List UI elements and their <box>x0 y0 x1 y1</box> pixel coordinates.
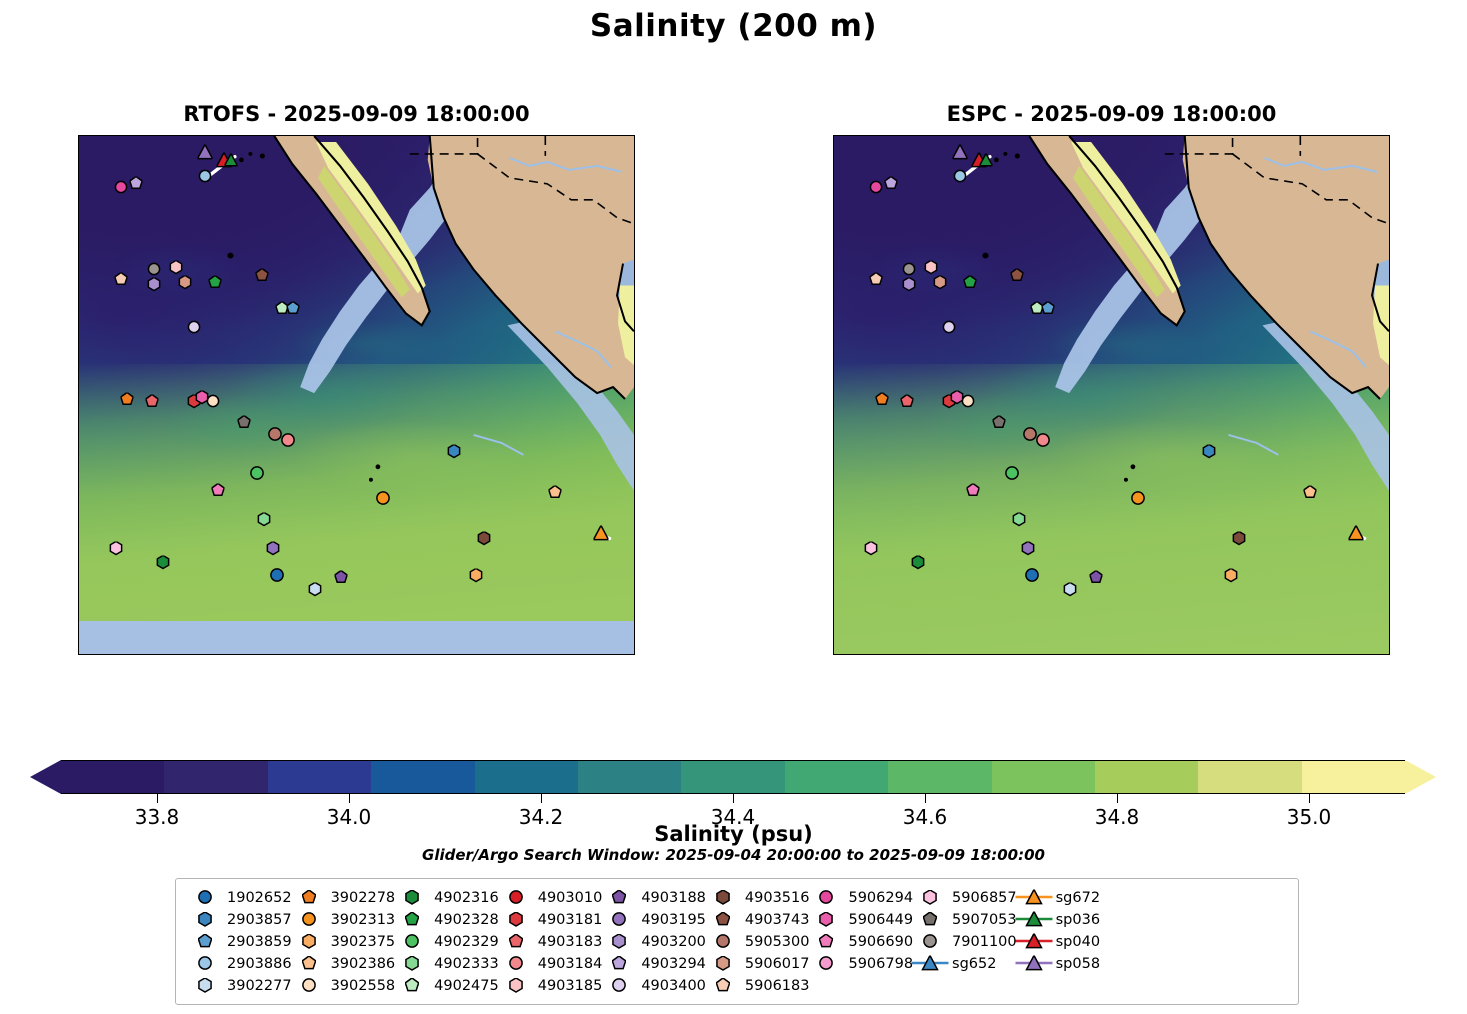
triangle-marker-icon <box>1017 932 1051 951</box>
lat-minor-tick <box>833 200 834 201</box>
map-marker-sg672[interactable] <box>594 525 609 546</box>
lat-minor-tick <box>1389 648 1390 649</box>
lon-minor-tick <box>1340 654 1341 655</box>
legend-column-4: 49030104903181490318349031844903185 <box>499 888 603 995</box>
legend-item-4903183[interactable]: 4903183 <box>499 932 603 951</box>
legend-label: sg672 <box>1056 890 1100 906</box>
lon-minor-tick <box>1101 654 1102 655</box>
map-marker-2903859[interactable] <box>287 301 300 320</box>
legend-label: 2903859 <box>227 934 292 950</box>
map-marker-3902386[interactable] <box>549 485 562 504</box>
map-marker-5906183[interactable] <box>115 272 128 291</box>
legend-item-4902329[interactable]: 4902329 <box>395 932 499 951</box>
legend-item-4902316[interactable]: 4902316 <box>395 888 499 907</box>
legend-column-8: 590685759070537901100sg652 <box>913 888 1017 995</box>
legend-item-3902278[interactable]: 3902278 <box>292 888 396 907</box>
legend-label: 4902329 <box>434 934 499 950</box>
map-marker-5906017[interactable] <box>934 276 947 295</box>
legend-item-4903188[interactable]: 4903188 <box>602 888 706 907</box>
legend-item-sp058[interactable]: sp058 <box>1017 954 1100 973</box>
lat-minor-tick <box>634 415 635 416</box>
lon-minor-tick <box>935 135 936 136</box>
pentagon-marker-icon <box>913 910 947 929</box>
lon-tick <box>1358 654 1359 655</box>
legend-item-sg652[interactable]: sg652 <box>913 954 1017 973</box>
legend-item-5906449[interactable]: 5906449 <box>809 910 913 929</box>
lat-minor-tick <box>634 317 635 318</box>
map-marker-4903743[interactable] <box>256 268 269 287</box>
legend-item-5906857[interactable]: 5906857 <box>913 888 1017 907</box>
map-marker-4902333[interactable] <box>258 513 271 532</box>
lon-tick <box>107 654 108 655</box>
lon-minor-tick <box>843 135 844 136</box>
circle-marker-icon <box>188 888 222 907</box>
map-marker-1902652[interactable] <box>1025 568 1039 588</box>
lon-minor-tick <box>180 654 181 655</box>
lat-tick <box>634 395 635 396</box>
lon-minor-tick <box>254 135 255 136</box>
lat-minor-tick <box>78 609 79 610</box>
lat-minor-tick <box>78 434 79 435</box>
lat-minor-tick <box>634 434 635 435</box>
map-marker-4902328[interactable] <box>963 276 976 295</box>
colorbar-segment-0 <box>61 761 164 793</box>
lat-minor-tick <box>1389 239 1390 240</box>
legend-item-3902375[interactable]: 3902375 <box>292 932 396 951</box>
lon-minor-tick <box>935 654 936 655</box>
legend-item-4903181[interactable]: 4903181 <box>499 910 603 929</box>
colorbar-segment-9 <box>992 761 1095 793</box>
map-marker-1902652[interactable] <box>270 568 284 588</box>
map-marker-5906294[interactable] <box>115 181 128 200</box>
legend-item-5907053[interactable]: 5907053 <box>913 910 1017 929</box>
map-marker-4903294[interactable] <box>129 177 142 196</box>
lon-tick <box>603 135 604 136</box>
colorbar-segment-7 <box>785 761 888 793</box>
map-panel-espc: ESPC - 2025-09-09 18:00:00 <box>833 135 1390 655</box>
legend-label: 4903294 <box>641 956 706 972</box>
legend-label: 4902316 <box>434 890 499 906</box>
lon-minor-tick <box>511 135 512 136</box>
map-marker-4903516[interactable] <box>1232 532 1245 551</box>
map-marker-5906690[interactable] <box>967 483 980 502</box>
lon-minor-tick <box>843 654 844 655</box>
lat-minor-tick <box>833 590 834 591</box>
map-marker-4903183[interactable] <box>146 394 159 413</box>
lat-tick <box>1389 395 1390 396</box>
legend-label: 5906449 <box>848 912 913 928</box>
colorbar-segment-6 <box>681 761 784 793</box>
map-marker-5906690[interactable] <box>212 483 225 502</box>
legend-column-5: 49031884903195490320049032944903400 <box>602 888 706 995</box>
legend-column-7: 5906294590644959066905906798 <box>809 888 913 995</box>
colorbar-tick <box>925 794 926 803</box>
lon-minor-tick <box>898 654 899 655</box>
lon-minor-tick <box>88 654 89 655</box>
float-markers-rtofs <box>79 136 634 654</box>
lon-tick <box>548 654 549 655</box>
legend-label: 5906183 <box>745 978 810 994</box>
lon-minor-tick <box>401 135 402 136</box>
map-marker-5906857[interactable] <box>109 542 122 561</box>
lat-tick <box>634 453 635 454</box>
lon-minor-tick <box>235 654 236 655</box>
map-marker-2903859[interactable] <box>1042 301 1055 320</box>
lat-minor-tick <box>634 492 635 493</box>
map-marker-5906294[interactable] <box>870 181 883 200</box>
legend-item-5906690[interactable]: 5906690 <box>809 932 913 951</box>
map-plot-area-rtofs[interactable]: 33°N30°N27°N24°N21°N18°N15°N12°N9°N126°W… <box>78 135 635 655</box>
map-marker-5906857[interactable] <box>864 542 877 561</box>
lon-minor-tick <box>511 654 512 655</box>
lon-minor-tick <box>990 135 991 136</box>
lat-tick <box>78 161 79 162</box>
lon-minor-tick <box>1266 135 1267 136</box>
legend-item-4903010[interactable]: 4903010 <box>499 888 603 907</box>
legend-column-1: 19026522903857290385929038863902277 <box>188 888 292 995</box>
colorbar: 33.834.034.234.434.634.835.0 <box>30 760 1436 794</box>
map-marker-3902375[interactable] <box>1225 569 1238 588</box>
lat-minor-tick <box>1389 473 1390 474</box>
map-marker-4903184[interactable] <box>1036 433 1050 453</box>
pentagon-marker-icon <box>292 888 326 907</box>
lon-tick <box>493 654 494 655</box>
lon-tick <box>862 654 863 655</box>
lon-minor-tick <box>1376 654 1377 655</box>
lon-minor-tick <box>566 654 567 655</box>
lat-minor-tick <box>78 590 79 591</box>
lon-tick <box>1027 135 1028 136</box>
map-marker-4903400[interactable] <box>943 321 956 340</box>
platform-legend[interactable]: 1902652290385729038592903886390227739022… <box>175 878 1299 1005</box>
lon-minor-tick <box>88 135 89 136</box>
hexagon-marker-icon <box>499 910 533 929</box>
lon-tick <box>1248 135 1249 136</box>
legend-item-7901100[interactable]: 7901100 <box>913 932 1017 951</box>
lon-minor-tick <box>898 135 899 136</box>
legend-item-2903857[interactable]: 2903857 <box>188 910 292 929</box>
lon-minor-tick <box>880 135 881 136</box>
lat-tick <box>634 629 635 630</box>
map-marker-5907053[interactable] <box>992 416 1005 435</box>
lon-minor-tick <box>1156 135 1157 136</box>
legend-label: sp058 <box>1056 956 1100 972</box>
legend-label: 4903195 <box>641 912 706 928</box>
float-markers-espc <box>834 136 1389 654</box>
lat-minor-tick <box>1389 142 1390 143</box>
circle-marker-icon <box>913 932 947 951</box>
legend-item-4903743[interactable]: 4903743 <box>706 910 810 929</box>
map-marker-4903183[interactable] <box>901 394 914 413</box>
lon-minor-tick <box>125 135 126 136</box>
legend-label: 3902375 <box>331 934 396 950</box>
map-marker-sp036[interactable] <box>980 154 993 173</box>
legend-label: 5906690 <box>848 934 913 950</box>
lon-minor-tick <box>880 654 881 655</box>
lat-minor-tick <box>1389 376 1390 377</box>
hexagon-marker-icon <box>809 910 843 929</box>
legend-item-1902652[interactable]: 1902652 <box>188 888 292 907</box>
hexagon-marker-icon <box>706 888 740 907</box>
map-marker-4902316[interactable] <box>157 555 170 574</box>
map-marker-4903200[interactable] <box>903 278 916 297</box>
colorbar-tick <box>541 794 542 803</box>
lon-minor-tick <box>1321 135 1322 136</box>
map-marker-5906183[interactable] <box>870 272 883 291</box>
lon-minor-tick <box>474 654 475 655</box>
lon-minor-tick <box>1376 135 1377 136</box>
lon-minor-tick <box>1009 654 1010 655</box>
map-marker-2903886[interactable] <box>954 169 967 188</box>
legend-item-5906017[interactable]: 5906017 <box>706 954 810 973</box>
map-marker-4903195[interactable] <box>1022 542 1035 561</box>
lat-minor-tick <box>833 551 834 552</box>
legend-label: 5906294 <box>848 890 913 906</box>
lon-minor-tick <box>290 135 291 136</box>
lat-tick <box>634 512 635 513</box>
lat-tick <box>634 220 635 221</box>
pentagon-marker-icon <box>395 976 429 995</box>
legend-item-sp040[interactable]: sp040 <box>1017 932 1100 951</box>
lat-minor-tick <box>634 356 635 357</box>
lon-minor-tick <box>990 654 991 655</box>
legend-item-4903200[interactable]: 4903200 <box>602 932 706 951</box>
map-marker-4903200[interactable] <box>148 278 161 297</box>
lon-minor-tick <box>456 135 457 136</box>
legend-item-5906294[interactable]: 5906294 <box>809 888 913 907</box>
lat-minor-tick <box>833 259 834 260</box>
lon-tick <box>1192 654 1193 655</box>
lat-minor-tick <box>634 531 635 532</box>
lat-minor-tick <box>833 376 834 377</box>
lat-tick <box>1389 337 1390 338</box>
lon-tick <box>382 654 383 655</box>
map-marker-4902329[interactable] <box>250 466 264 486</box>
lon-tick <box>1082 135 1083 136</box>
legend-item-5906183[interactable]: 5906183 <box>706 976 810 995</box>
pentagon-marker-icon <box>809 932 843 951</box>
lon-tick <box>1027 654 1028 655</box>
legend-label: 4903184 <box>538 956 603 972</box>
lon-minor-tick <box>419 654 420 655</box>
legend-item-4902333[interactable]: 4902333 <box>395 954 499 973</box>
map-marker-5906017[interactable] <box>179 276 192 295</box>
lat-minor-tick <box>1389 551 1390 552</box>
lon-tick <box>972 654 973 655</box>
legend-label: sg652 <box>952 956 996 972</box>
lat-minor-tick <box>1389 259 1390 260</box>
lon-minor-tick <box>1174 135 1175 136</box>
lon-tick <box>1303 135 1304 136</box>
lon-minor-tick <box>1174 654 1175 655</box>
colorbar-tick <box>349 794 350 803</box>
lat-minor-tick <box>78 356 79 357</box>
lon-tick <box>493 135 494 136</box>
lon-minor-tick <box>953 654 954 655</box>
map-plot-area-espc[interactable]: 33°N30°N27°N24°N21°N18°N15°N12°N9°N126°W… <box>833 135 1390 655</box>
lat-minor-tick <box>634 473 635 474</box>
colorbar-segment-3 <box>371 761 474 793</box>
lat-minor-tick <box>1389 298 1390 299</box>
map-marker-3902375[interactable] <box>470 569 483 588</box>
legend-item-4903195[interactable]: 4903195 <box>602 910 706 929</box>
map-marker-4903294[interactable] <box>884 177 897 196</box>
lat-tick <box>634 337 635 338</box>
lat-minor-tick <box>1389 200 1390 201</box>
lon-minor-tick <box>143 135 144 136</box>
map-marker-4903743[interactable] <box>1011 268 1024 287</box>
lon-minor-tick <box>1045 654 1046 655</box>
map-marker-3902558[interactable] <box>206 394 219 413</box>
colorbar-segment-11 <box>1198 761 1301 793</box>
pentagon-marker-icon <box>602 888 636 907</box>
map-marker-3902278[interactable] <box>875 392 888 411</box>
map-marker-3902278[interactable] <box>120 392 133 411</box>
lon-tick <box>1358 135 1359 136</box>
legend-item-4902475[interactable]: 4902475 <box>395 976 499 995</box>
legend-item-sg672[interactable]: sg672 <box>1017 888 1100 907</box>
map-marker-2903857[interactable] <box>1203 445 1216 464</box>
lon-minor-tick <box>1229 654 1230 655</box>
legend-label: sp036 <box>1056 912 1100 928</box>
lat-minor-tick <box>833 142 834 143</box>
legend-item-2903886[interactable]: 2903886 <box>188 954 292 973</box>
lat-tick <box>1389 570 1390 571</box>
lat-tick <box>833 453 834 454</box>
legend-item-4903184[interactable]: 4903184 <box>499 954 603 973</box>
lon-tick <box>217 135 218 136</box>
legend-item-4903516[interactable]: 4903516 <box>706 888 810 907</box>
map-marker-4903400[interactable] <box>188 321 201 340</box>
legend-item-sp036[interactable]: sp036 <box>1017 910 1100 929</box>
map-marker-5907053[interactable] <box>237 416 250 435</box>
lon-minor-tick <box>585 654 586 655</box>
legend-item-4903185[interactable]: 4903185 <box>499 976 603 995</box>
legend-label: 5906017 <box>745 956 810 972</box>
map-marker-3902277[interactable] <box>1064 582 1077 601</box>
lon-tick <box>603 654 604 655</box>
map-marker-sg672[interactable] <box>1349 525 1364 546</box>
lon-tick <box>437 654 438 655</box>
lat-minor-tick <box>634 551 635 552</box>
circle-marker-icon <box>188 954 222 973</box>
map-marker-3902313[interactable] <box>1131 491 1145 511</box>
lat-minor-tick <box>1389 434 1390 435</box>
legend-item-3902277[interactable]: 3902277 <box>188 976 292 995</box>
lat-minor-tick <box>78 531 79 532</box>
colorbar-label: Salinity (psu) <box>0 822 1467 846</box>
map-marker-3902558[interactable] <box>961 394 974 413</box>
map-marker-2903886[interactable] <box>199 169 212 188</box>
map-marker-3902313[interactable] <box>376 491 390 511</box>
map-marker-4903516[interactable] <box>477 532 490 551</box>
legend-label: 3902278 <box>331 890 396 906</box>
map-marker-4903188[interactable] <box>1089 571 1102 590</box>
lat-minor-tick <box>634 298 635 299</box>
circle-marker-icon <box>809 954 843 973</box>
lat-tick <box>1389 453 1390 454</box>
lon-minor-tick <box>1156 654 1157 655</box>
lon-tick <box>162 654 163 655</box>
lat-minor-tick <box>634 648 635 649</box>
colorbar-segment-8 <box>888 761 991 793</box>
map-marker-sp058[interactable] <box>198 145 213 166</box>
map-marker-4902316[interactable] <box>912 555 925 574</box>
lat-minor-tick <box>78 259 79 260</box>
lon-tick <box>162 135 163 136</box>
lon-minor-tick <box>456 654 457 655</box>
map-marker-sp058[interactable] <box>953 145 968 166</box>
hexagon-marker-icon <box>706 954 740 973</box>
map-marker-2903857[interactable] <box>448 445 461 464</box>
pentagon-marker-icon <box>602 954 636 973</box>
map-marker-4902333[interactable] <box>1013 513 1026 532</box>
circle-marker-icon <box>395 932 429 951</box>
lat-tick <box>78 512 79 513</box>
lat-minor-tick <box>833 609 834 610</box>
map-marker-4902329[interactable] <box>1005 466 1019 486</box>
lat-tick <box>78 395 79 396</box>
legend-label: 3902558 <box>331 978 396 994</box>
legend-item-5906798[interactable]: 5906798 <box>809 954 913 973</box>
legend-item-3902313[interactable]: 3902313 <box>292 910 396 929</box>
lat-minor-tick <box>833 356 834 357</box>
legend-item-3902386[interactable]: 3902386 <box>292 954 396 973</box>
map-marker-3902277[interactable] <box>309 582 322 601</box>
circle-marker-icon <box>602 910 636 929</box>
legend-label: 4903183 <box>538 934 603 950</box>
legend-item-5905300[interactable]: 5905300 <box>706 932 810 951</box>
colorbar-segment-2 <box>268 761 371 793</box>
panel-title-espc: ESPC - 2025-09-09 18:00:00 <box>833 102 1390 126</box>
map-marker-3902386[interactable] <box>1304 485 1317 504</box>
lon-minor-tick <box>1119 654 1120 655</box>
lat-tick <box>833 512 834 513</box>
hexagon-marker-icon <box>188 910 222 929</box>
triangle-marker-icon <box>1017 954 1051 973</box>
lat-minor-tick <box>833 298 834 299</box>
hexagon-marker-icon <box>395 888 429 907</box>
map-marker-4903188[interactable] <box>334 571 347 590</box>
lat-minor-tick <box>634 259 635 260</box>
lat-minor-tick <box>1389 492 1390 493</box>
lon-minor-tick <box>1266 654 1267 655</box>
map-marker-sp036[interactable] <box>225 154 238 173</box>
pentagon-marker-icon <box>499 932 533 951</box>
legend-item-4902328[interactable]: 4902328 <box>395 910 499 929</box>
legend-column-2: 39022783902313390237539023863902558 <box>292 888 396 995</box>
lon-minor-tick <box>1009 135 1010 136</box>
map-marker-4902328[interactable] <box>208 276 221 295</box>
map-marker-4903195[interactable] <box>267 542 280 561</box>
lon-minor-tick <box>1211 135 1212 136</box>
lon-minor-tick <box>1119 135 1120 136</box>
lat-minor-tick <box>78 551 79 552</box>
lon-minor-tick <box>309 654 310 655</box>
legend-item-2903859[interactable]: 2903859 <box>188 932 292 951</box>
circle-marker-icon <box>809 888 843 907</box>
lat-tick <box>833 161 834 162</box>
lon-minor-tick <box>419 135 420 136</box>
map-marker-4903184[interactable] <box>281 433 295 453</box>
legend-label: 3902386 <box>331 956 396 972</box>
legend-item-4903294[interactable]: 4903294 <box>602 954 706 973</box>
legend-item-3902558[interactable]: 3902558 <box>292 976 396 995</box>
legend-label: 7901100 <box>952 934 1017 950</box>
lon-tick <box>1137 135 1138 136</box>
lat-minor-tick <box>78 317 79 318</box>
legend-item-4903400[interactable]: 4903400 <box>602 976 706 995</box>
